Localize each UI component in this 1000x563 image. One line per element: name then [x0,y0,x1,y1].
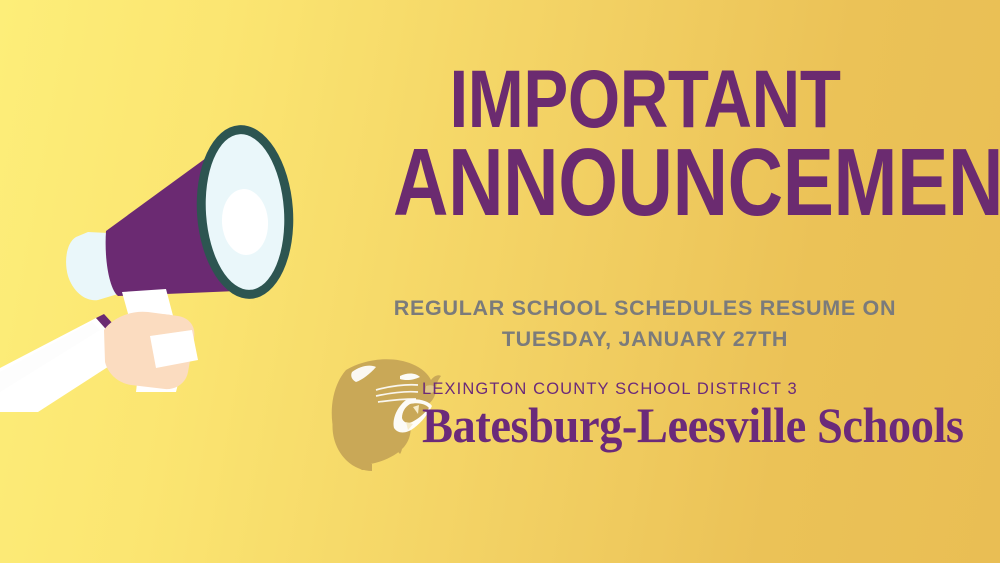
district-logo: LEXINGTON COUNTY SCHOOL DISTRICT 3 Bates… [318,352,968,477]
subtitle-line-1: REGULAR SCHOOL SCHEDULES RESUME ON [330,293,960,324]
megaphone-handle-front [150,330,198,368]
schools-name-line: Batesburg-Leesville Schools [422,400,930,451]
district-logo-text: LEXINGTON COUNTY SCHOOL DISTRICT 3 Bates… [422,380,968,451]
announcement-graphic: IMPORTANT ANNOUNCEMENT REGULAR SCHOOL SC… [0,0,1000,563]
headline-line-2: ANNOUNCEMENT [393,139,897,227]
subtitle: REGULAR SCHOOL SCHEDULES RESUME ON TUESD… [330,293,960,354]
headline: IMPORTANT ANNOUNCEMENT [330,62,960,228]
subtitle-line-2: TUESDAY, JANUARY 27TH [330,324,960,355]
headline-line-1: IMPORTANT [387,62,904,137]
megaphone-illustration [0,0,340,460]
